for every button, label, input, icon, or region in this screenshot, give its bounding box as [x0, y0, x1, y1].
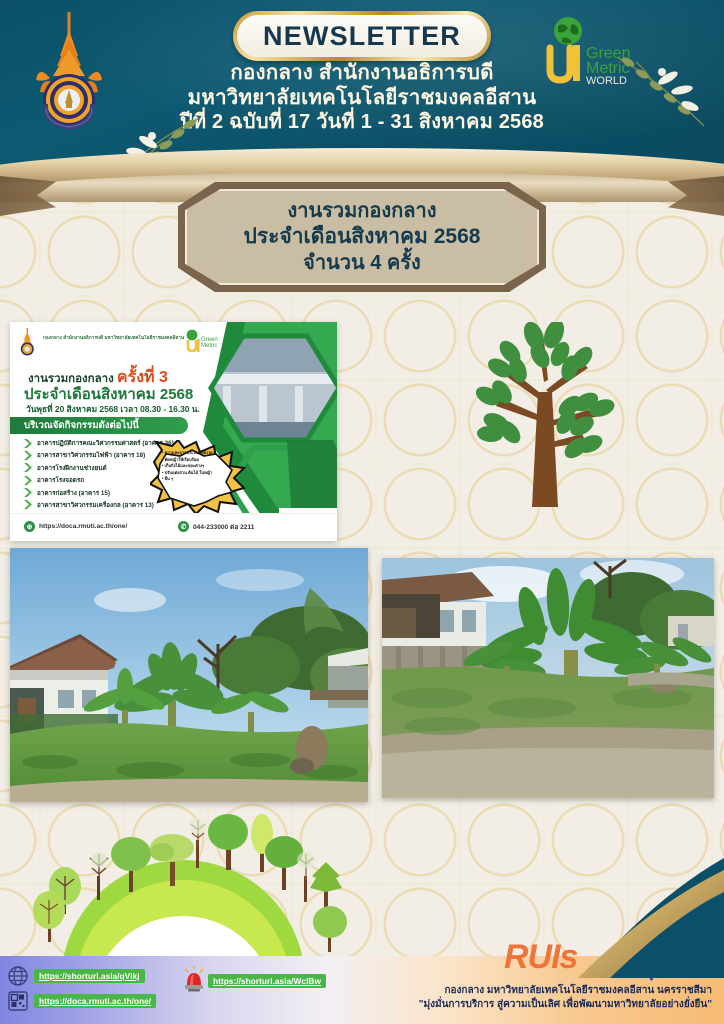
photo-1-scene — [10, 548, 368, 802]
plaque-line-3: จำนวน 4 ครั้ง — [303, 250, 421, 276]
plaque-line-1: งานรวมกองกลาง — [287, 198, 436, 224]
footer-link-row-1[interactable]: https://shorturl.asia/qVlkj — [8, 966, 156, 986]
footer-slogan: "มุ่งมั่นการบริการ สู่ความเป็นเลิศ เพื่อ… — [419, 998, 712, 1012]
footer-link-doca[interactable]: https://doca.rmuti.ac.th/one/ — [34, 994, 156, 1008]
poster-emblem-icon — [16, 327, 39, 357]
activity-photo-2[interactable] — [382, 558, 714, 798]
qr-code-icon — [8, 991, 28, 1011]
location-label: อาคารสาขาวิศวกรรมเครื่องกล (อาคาร 13) — [37, 500, 154, 510]
event-poster-card[interactable]: กองกลาง สำนักงานอธิการบดี มหาวิทยาลัยเทค… — [10, 322, 337, 541]
chevron-check-icon — [24, 476, 34, 485]
burst-item: ความสะอาดบริเวณโดยรอบ — [162, 450, 226, 457]
globe-icon — [8, 966, 28, 986]
poster-website-contact[interactable]: ⊕ https://doca.rmuti.ac.th/one/ — [24, 521, 127, 532]
activity-photo-1[interactable] — [10, 548, 368, 802]
footer-org-block: กองกลาง มหาวิทยาลัยเทคโนโลยีราชมงคลอีสาน… — [419, 984, 712, 1012]
chevron-check-icon — [24, 488, 34, 497]
poster-phone-number: 044-233000 ต่อ 2211 — [193, 521, 254, 532]
footer-links: https://shorturl.asia/qVlkj https://doca… — [8, 966, 156, 1016]
globe-icon: ⊕ — [24, 521, 35, 532]
burst-item: อื่น ๆ — [162, 476, 226, 483]
location-label: อาคารโรงฝึกงานช่างยนต์ — [37, 463, 107, 473]
chevron-check-icon — [24, 439, 34, 448]
poster-uigreenmetric-logo: Green Metric — [182, 328, 220, 354]
stylized-tree-illustration — [470, 322, 620, 507]
location-label: อาคารโรงจอดรถ — [37, 475, 84, 485]
newsletter-badge: NEWSLETTER — [233, 11, 491, 61]
footer-org-name: กองกลาง มหาวิทยาลัยเทคโนโลยีราชมงคลอีสาน… — [419, 984, 712, 998]
poster-burst-list: ความสะอาดบริเวณโดยรอบ ตัดหญ้าให้เรียบร้อ… — [162, 450, 226, 483]
newsletter-badge-label: NEWSLETTER — [263, 21, 461, 52]
photo-2-scene — [382, 558, 714, 798]
chevron-check-icon — [24, 500, 34, 509]
phone-icon: ✆ — [178, 521, 189, 532]
footer-link-row-2[interactable]: https://doca.rmuti.ac.th/one/ — [8, 991, 156, 1011]
green-hill-with-trees-illustration — [18, 812, 348, 972]
burst-item: เก็บกิ่งไม้และขยะต่างๆ — [162, 463, 226, 470]
location-label: อาคารก่อสร้าง (อาคาร 15) — [37, 488, 110, 498]
newsletter-page: NEWSLETTER กองกลาง สำนักงานอธิการบดี มหา… — [0, 0, 724, 1024]
chevron-check-icon — [24, 463, 34, 472]
footer-link-shorturl-1[interactable]: https://shorturl.asia/qVlkj — [34, 969, 145, 983]
footer-link-shorturl-2[interactable]: https://shorturl.asia/WclBw — [208, 974, 326, 988]
poster-phone-contact: ✆ 044-233000 ต่อ 2211 — [178, 521, 254, 532]
poster-date-line: วันพุธที่ 20 สิงหาคม 2568 เวลา 08.30 - 1… — [26, 402, 200, 416]
plaque-body: งานรวมกองกลาง ประจำเดือนสิงหาคม 2568 จำน… — [185, 189, 539, 285]
plaque-line-2: ประจำเดือนสิงหาคม 2568 — [244, 224, 481, 250]
poster-website-url: https://doca.rmuti.ac.th/one/ — [39, 523, 127, 530]
svg-text:Metric: Metric — [201, 343, 217, 349]
title-plaque: งานรวมกองกลาง ประจำเดือนสิงหาคม 2568 จำน… — [178, 182, 546, 292]
poster-section-header: บริเวณจัดกิจกรรมดังต่อไปนี้ — [10, 417, 188, 434]
gold-swoosh-decoration — [544, 858, 724, 978]
siren-icon — [182, 966, 206, 992]
floral-spray-right-icon — [612, 48, 724, 138]
chevron-check-icon — [24, 451, 34, 460]
footer-alert-link-row[interactable]: https://shorturl.asia/WclBw — [208, 971, 326, 989]
poster-org-line: กองกลาง สำนักงานอธิการบดี มหาวิทยาลัยเทค… — [43, 335, 184, 342]
location-label: อาคารสาขาวิศวกรรมไฟฟ้า (อาคาร 18) — [37, 450, 145, 460]
